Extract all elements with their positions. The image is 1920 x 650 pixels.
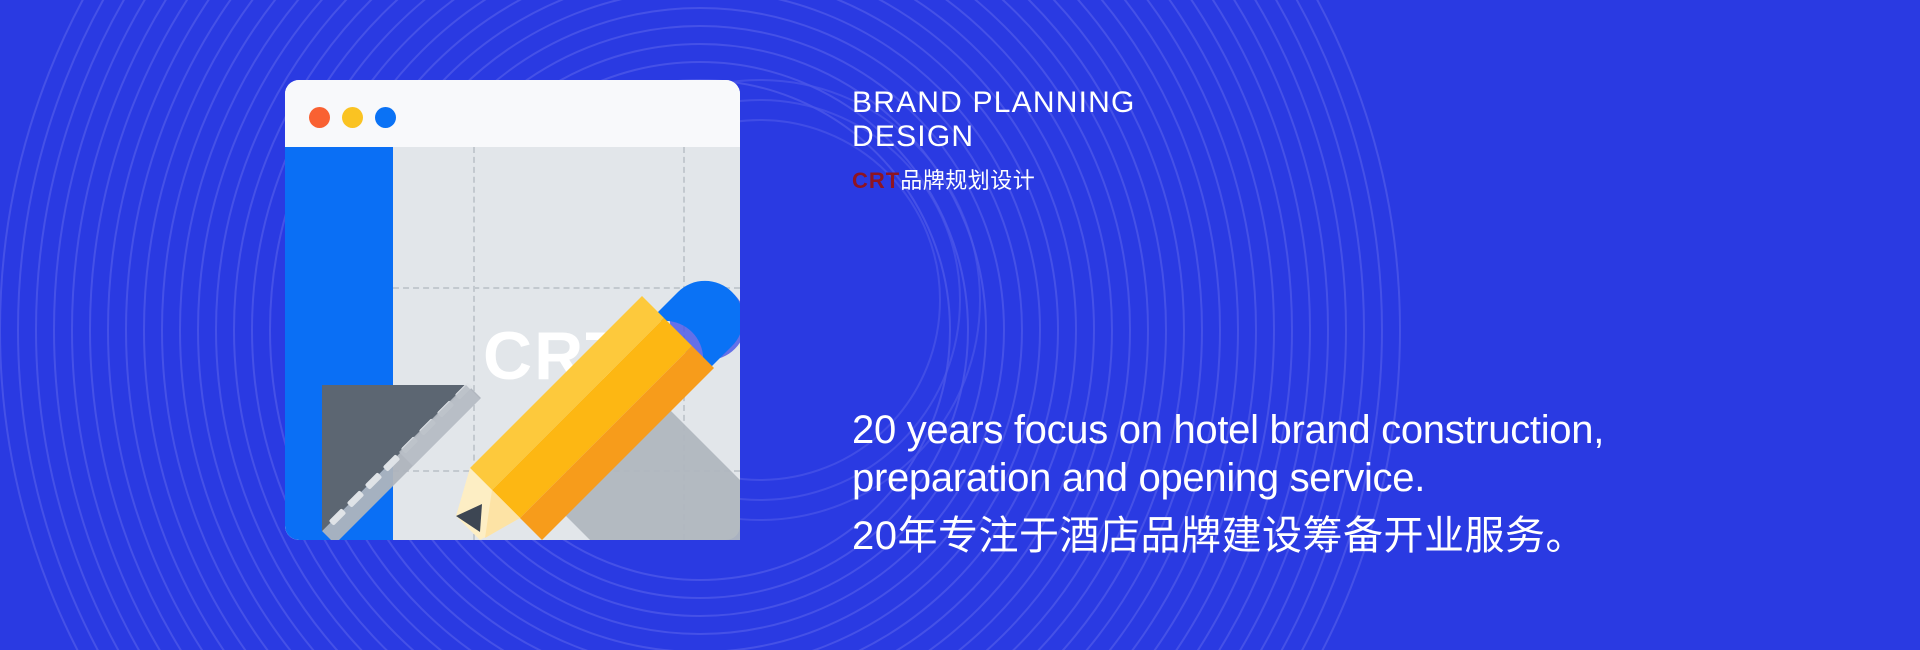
brand-kicker-cn-text: 品牌规划设计 — [900, 168, 1035, 193]
headline-cn: 20年专注于酒店品牌建设筹备开业服务。 — [852, 512, 1586, 560]
hero-banner: CRT' — [0, 0, 1920, 650]
banner-copy: BRAND PLANNING DESIGN CRT品牌规划设计 20 years… — [852, 0, 1852, 650]
headline-en: 20 years focus on hotel brand constructi… — [852, 406, 1604, 502]
brand-kicker-en: BRAND PLANNING DESIGN — [852, 86, 1136, 154]
brand-design-illustration: CRT' — [180, 60, 740, 540]
brand-kicker-crt: CRT — [852, 168, 900, 193]
pencil-illustration — [180, 60, 740, 540]
brand-kicker-cn: CRT品牌规划设计 — [852, 168, 1035, 194]
